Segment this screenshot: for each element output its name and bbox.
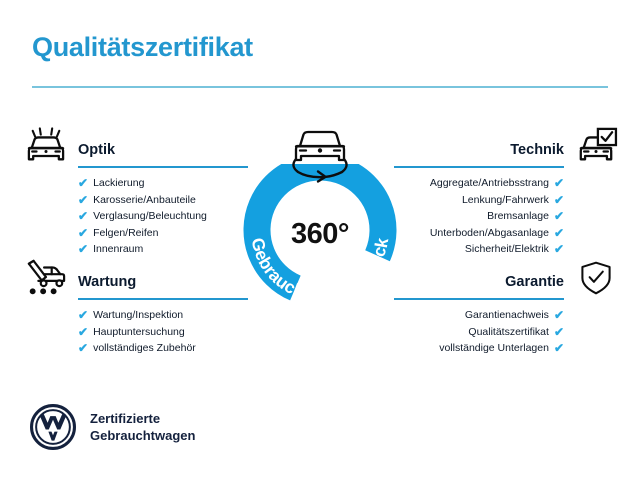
list-item-label: Qualitätszertifikat [468,324,549,341]
checklist-technik: ✔Aggregate/Antriebsstrang ✔Lenkung/Fahrw… [394,175,620,258]
section-garantie: Garantie ✔Garantienachweis ✔Qualitätszer… [394,258,620,357]
footer-line-1: Zertifizierte [90,410,195,427]
list-item: ✔Bremsanlage [394,208,620,225]
section-title-technik: Technik [510,142,564,158]
footer-text: Zertifizierte Gebrauchtwagen [90,410,195,444]
checklist-wartung: ✔Wartung/Inspektion ✔Hauptuntersuchung ✔… [22,307,248,357]
list-item: ✔Innenraum [22,241,248,258]
list-item: ✔Wartung/Inspektion [22,307,248,324]
check-icon: ✔ [78,326,88,338]
list-item-label: Verglasung/Beleuchtung [93,208,207,225]
check-icon: ✔ [78,194,88,206]
list-item-label: Innenraum [93,241,143,258]
section-header-optik: Optik [22,126,248,168]
check-icon: ✔ [78,177,88,189]
check-icon: ✔ [554,326,564,338]
list-item-label: vollständige Unterlagen [439,340,549,357]
check-icon: ✔ [78,227,88,239]
section-header-technik: Technik [394,126,620,168]
section-wartung: Wartung ✔Wartung/Inspektion ✔Hauptunters… [22,258,248,357]
volkswagen-logo [30,404,76,450]
section-divider-wartung [78,298,248,300]
list-item-label: Bremsanlage [487,208,549,225]
list-item-label: Karosserie/Anbauteile [93,192,196,209]
checklist-optik: ✔Lackierung ✔Karosserie/Anbauteile ✔Verg… [22,175,248,258]
list-item: ✔vollständige Unterlagen [394,340,620,357]
section-divider-technik [394,166,564,168]
check-icon: ✔ [78,309,88,321]
section-divider-optik [78,166,248,168]
check-icon: ✔ [554,342,564,354]
list-item: ✔Garantienachweis [394,307,620,324]
list-item-label: Wartung/Inspektion [93,307,183,324]
check-icon: ✔ [554,243,564,255]
footer-line-2: Gebrauchtwagen [90,427,195,444]
car-service-pen-icon [22,258,70,298]
list-item: ✔Lenkung/Fahrwerk [394,192,620,209]
section-divider-garantie [394,298,564,300]
list-item-label: Garantienachweis [465,307,549,324]
check-icon: ✔ [78,342,88,354]
list-item: ✔Sicherheit/Elektrik [394,241,620,258]
page-title: Qualitätszertifikat [32,32,253,63]
title-divider [32,86,608,88]
check-icon: ✔ [554,210,564,222]
certificate-page: Qualitätszertifikat [0,0,640,480]
list-item: ✔Aggregate/Antriebsstrang [394,175,620,192]
list-item-label: Aggregate/Antriebsstrang [430,175,549,192]
section-technik: Technik ✔Aggregate/Antriebsstrang ✔Lenku… [394,126,620,258]
list-item: ✔Karosserie/Anbauteile [22,192,248,209]
shield-check-icon [572,258,620,298]
car-checkbox-icon [572,126,620,166]
badge-360-gebrauchtwagen-check: Gebrauchtwagen-Check 360° [228,124,412,310]
check-icon: ✔ [78,210,88,222]
car-rotation-icon [284,124,356,186]
section-header-wartung: Wartung [22,258,248,300]
list-item-label: Lackierung [93,175,144,192]
list-item: ✔Qualitätszertifikat [394,324,620,341]
section-header-garantie: Garantie [394,258,620,300]
section-optik: Optik ✔Lackierung ✔Karosserie/Anbauteile… [22,126,248,258]
list-item-label: vollständiges Zubehör [93,340,196,357]
section-title-garantie: Garantie [505,274,564,290]
list-item-label: Unterboden/Abgasanlage [430,225,549,242]
list-item: ✔Verglasung/Beleuchtung [22,208,248,225]
check-icon: ✔ [78,243,88,255]
list-item-label: Lenkung/Fahrwerk [462,192,549,209]
footer-brand: Zertifizierte Gebrauchtwagen [30,404,195,450]
list-item: ✔Unterboden/Abgasanlage [394,225,620,242]
list-item-label: Hauptuntersuchung [93,324,185,341]
list-item: ✔Lackierung [22,175,248,192]
badge-center-label: 360° [228,218,412,251]
list-item: ✔vollständiges Zubehör [22,340,248,357]
list-item-label: Sicherheit/Elektrik [465,241,549,258]
check-icon: ✔ [554,227,564,239]
check-icon: ✔ [554,194,564,206]
list-item-label: Felgen/Reifen [93,225,158,242]
section-title-optik: Optik [78,142,115,158]
section-title-wartung: Wartung [78,274,136,290]
checklist-garantie: ✔Garantienachweis ✔Qualitätszertifikat ✔… [394,307,620,357]
check-icon: ✔ [554,177,564,189]
shiny-car-icon [22,126,70,166]
list-item: ✔Felgen/Reifen [22,225,248,242]
check-icon: ✔ [554,309,564,321]
list-item: ✔Hauptuntersuchung [22,324,248,341]
